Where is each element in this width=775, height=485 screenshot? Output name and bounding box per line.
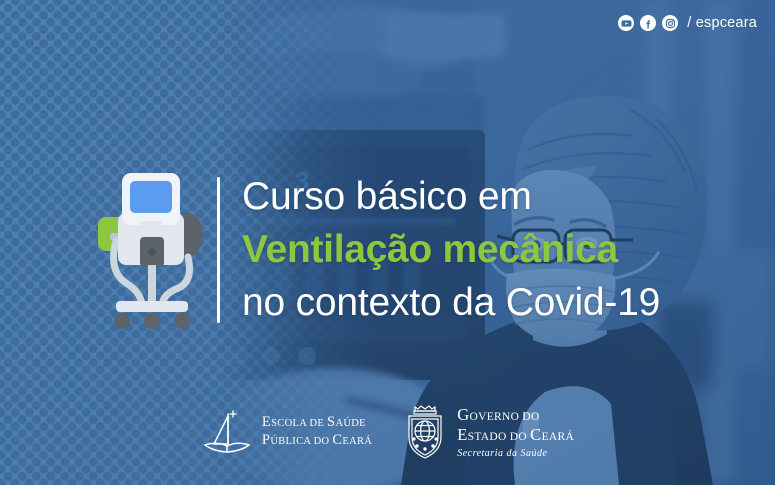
- esp-ceara-logo: ESCOLA DE SAÚDE PÚBLICA DO CEARÁ: [201, 408, 372, 456]
- footer-logos: ESCOLA DE SAÚDE PÚBLICA DO CEARÁ: [0, 403, 775, 461]
- governo-ceara-logo: GOVERNO DO ESTADO DO CEARÁ Secretaria da…: [402, 403, 574, 461]
- facebook-icon[interactable]: [640, 15, 656, 31]
- esp-logo-line-1: ESCOLA DE SAÚDE: [262, 414, 372, 432]
- social-handle[interactable]: / espceara: [687, 15, 757, 31]
- youtube-icon[interactable]: [618, 15, 634, 31]
- esp-logo-line-2: PÚBLICA DO CEARÁ: [262, 432, 372, 450]
- gov-logo-line-2: ESTADO DO CEARÁ: [457, 426, 574, 446]
- gov-logo-subtitle: Secretaria da Saúde: [457, 448, 574, 459]
- hero-titles: Curso básico em Ventilação mecânica no c…: [242, 170, 660, 329]
- esp-sailboat-book-logo: [201, 408, 253, 456]
- ceara-coat-of-arms: [402, 403, 448, 461]
- gov-logo-text: GOVERNO DO ESTADO DO CEARÁ Secretaria da…: [457, 406, 574, 459]
- gov-logo-line-1: GOVERNO DO: [457, 406, 574, 426]
- esp-logo-text: ESCOLA DE SAÚDE PÚBLICA DO CEARÁ: [262, 414, 372, 450]
- hero-divider: [217, 177, 220, 323]
- mechanical-ventilator-icon: [96, 171, 208, 329]
- instagram-icon[interactable]: [662, 15, 678, 31]
- social-links: / espceara: [618, 15, 757, 31]
- title-line-1: Curso básico em: [242, 170, 660, 223]
- title-line-2-accent: Ventilação mecânica: [242, 223, 660, 276]
- hero-block: Curso básico em Ventilação mecânica no c…: [96, 170, 660, 329]
- course-promo-banner: 57 95 3: [0, 0, 775, 485]
- title-line-3: no contexto da Covid-19: [242, 276, 660, 329]
